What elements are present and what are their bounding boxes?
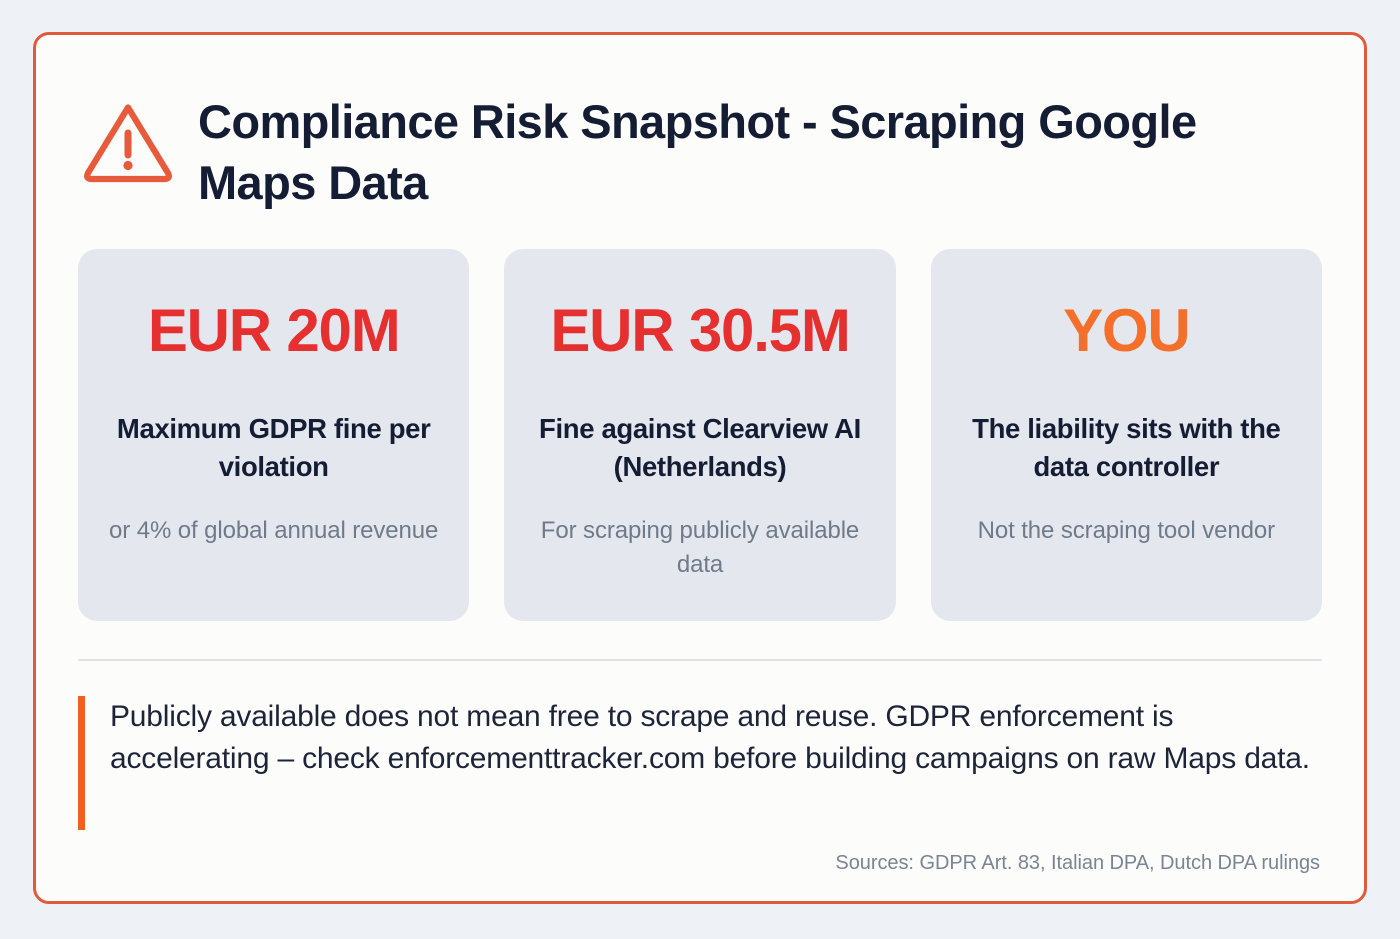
callout-text: Publicly available does not mean free to… [110, 696, 1310, 830]
stat-subtext: Not the scraping tool vendor [978, 514, 1275, 548]
sources-note: Sources: GDPR Art. 83, Italian DPA, Dutc… [76, 852, 1324, 875]
stat-value: YOU [1063, 299, 1189, 362]
stat-value: EUR 30.5M [550, 299, 849, 362]
callout: Publicly available does not mean free to… [76, 696, 1324, 830]
stat-card: EUR 20M Maximum GDPR fine per violation … [78, 249, 469, 621]
callout-accent-bar [78, 696, 85, 830]
section-divider [78, 659, 1322, 661]
stat-value: EUR 20M [148, 299, 400, 362]
infographic-frame: Compliance Risk Snapshot - Scraping Goog… [33, 32, 1367, 904]
stat-subtext: or 4% of global annual revenue [109, 514, 438, 548]
stat-heading: Maximum GDPR fine per violation [100, 410, 447, 485]
stat-card-group: EUR 20M Maximum GDPR fine per violation … [76, 249, 1324, 621]
header: Compliance Risk Snapshot - Scraping Goog… [76, 71, 1324, 213]
page-title: Compliance Risk Snapshot - Scraping Goog… [198, 91, 1208, 213]
infographic-body: Compliance Risk Snapshot - Scraping Goog… [36, 35, 1364, 901]
stat-heading: Fine against Clearview AI (Netherlands) [526, 410, 873, 485]
stat-subtext: For scraping publicly available data [526, 514, 873, 582]
stat-card: EUR 30.5M Fine against Clearview AI (Net… [504, 249, 895, 621]
stat-card: YOU The liability sits with the data con… [931, 249, 1322, 621]
warning-triangle-icon [80, 97, 176, 185]
stat-heading: The liability sits with the data control… [953, 410, 1300, 485]
